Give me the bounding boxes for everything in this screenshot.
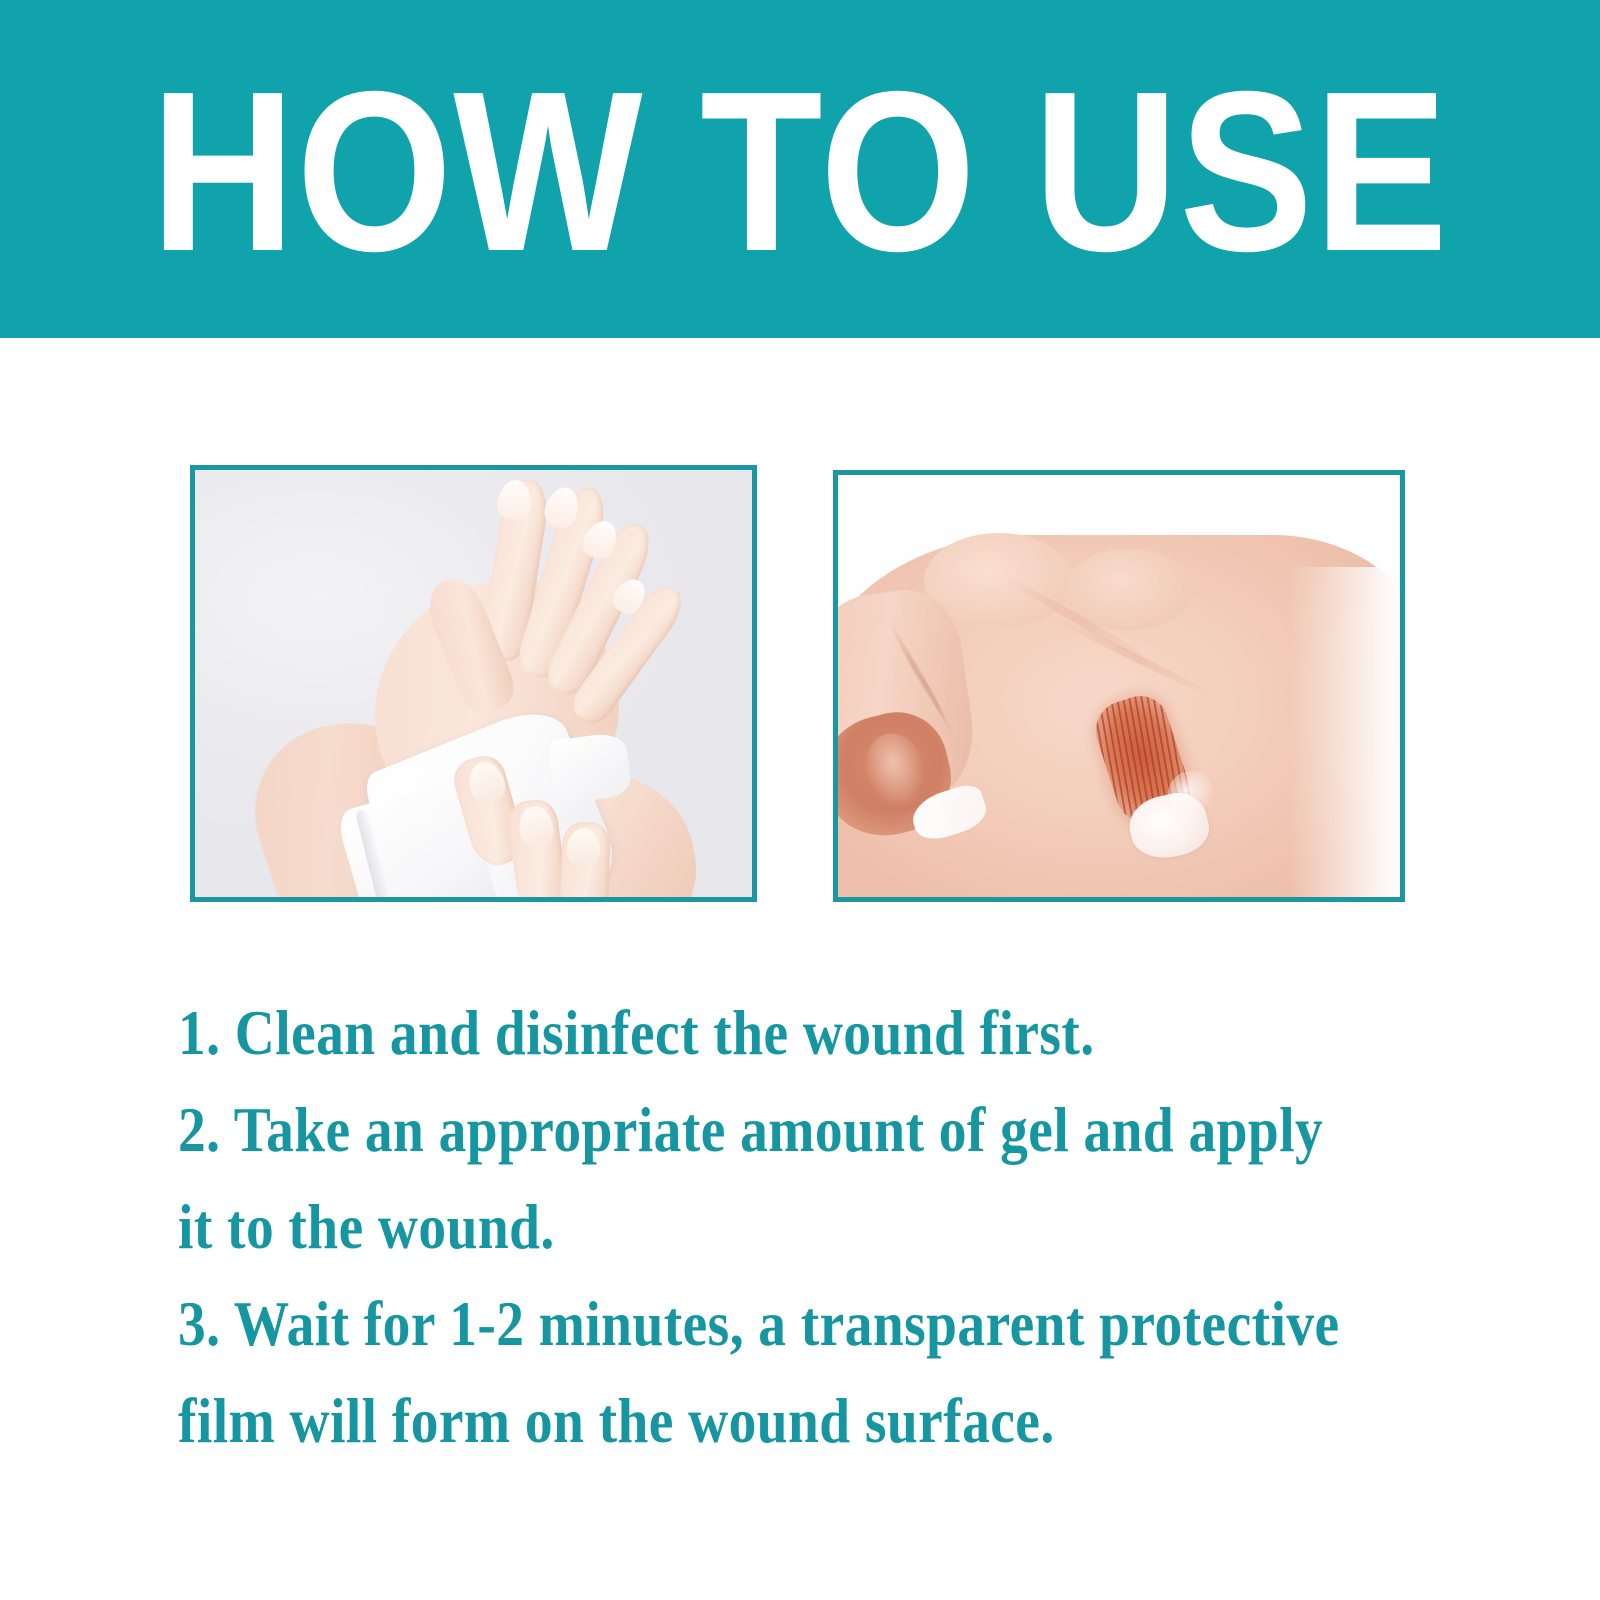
instructions-list: 1. Clean and disinfect the wound first. … bbox=[178, 985, 1478, 1470]
header-banner: HOW TO USE bbox=[0, 0, 1600, 338]
wound-gel-photo-panel bbox=[833, 470, 1405, 902]
photo-edge-fade bbox=[1290, 567, 1400, 897]
cleaning-photo-image bbox=[195, 470, 752, 897]
instruction-line-4: 3. Wait for 1-2 minutes, a transparent p… bbox=[178, 1276, 1322, 1373]
page-title: HOW TO USE bbox=[151, 84, 1449, 262]
photo-panels-row bbox=[0, 462, 1600, 907]
instruction-line-2: 2. Take an appropriate amount of gel and… bbox=[178, 1082, 1322, 1179]
photo-white-band bbox=[956, 481, 1311, 511]
tissue-corner-shape bbox=[547, 731, 633, 805]
instruction-line-5: film will form on the wound surface. bbox=[178, 1373, 1322, 1470]
wound-gel-photo-image bbox=[838, 475, 1400, 897]
instruction-line-1: 1. Clean and disinfect the wound first. bbox=[178, 985, 1322, 1082]
instruction-line-3: it to the wound. bbox=[178, 1179, 1322, 1276]
cleaning-photo-panel bbox=[190, 465, 757, 902]
